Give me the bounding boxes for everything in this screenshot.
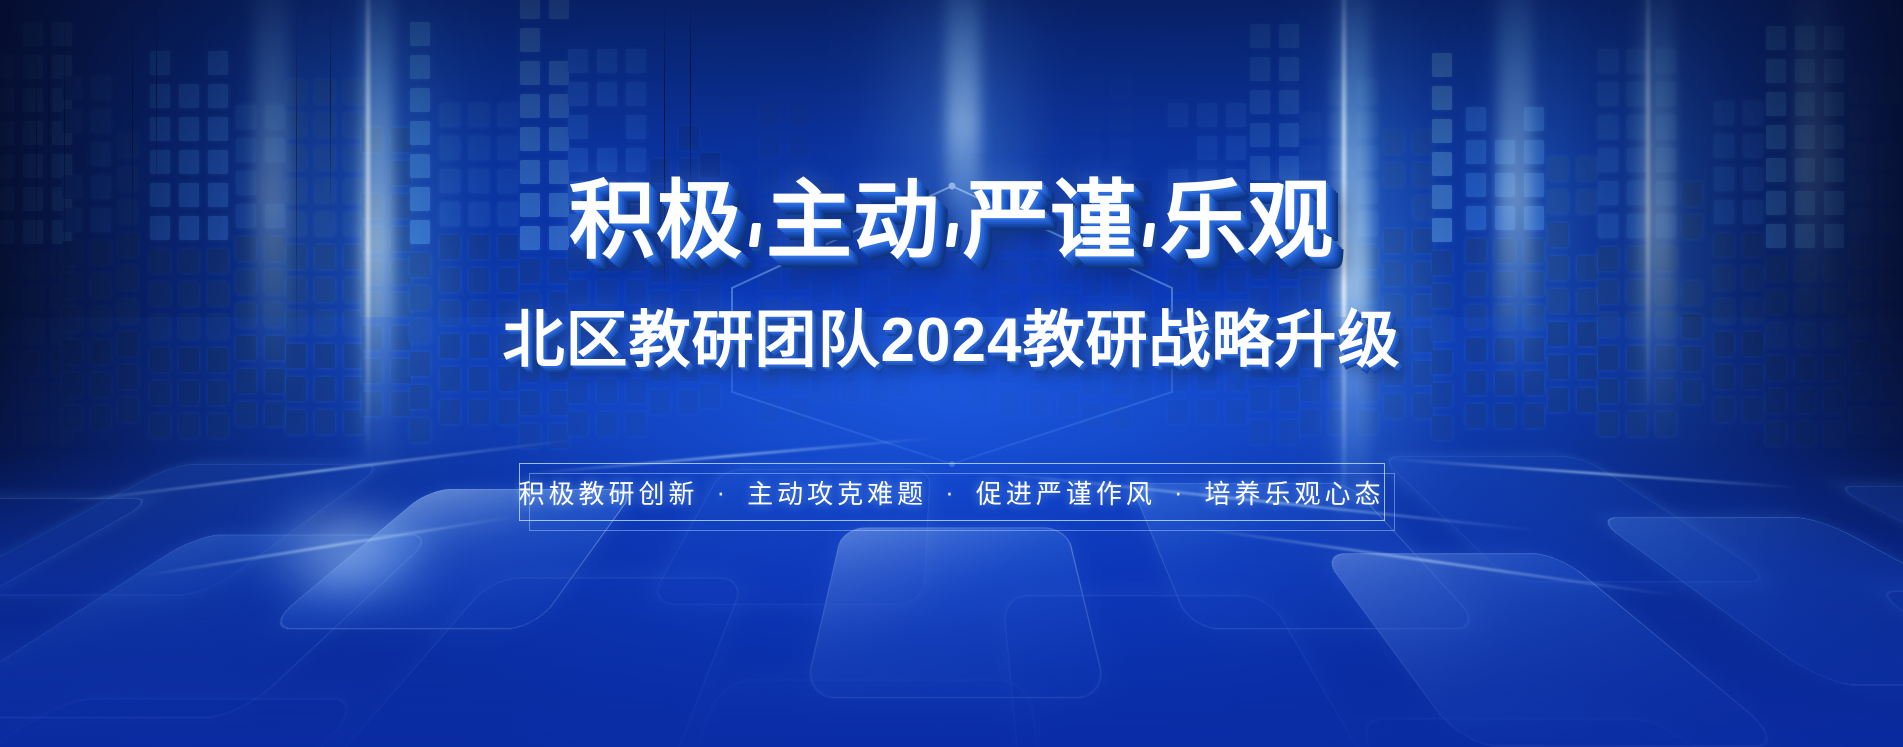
headline-word-2: 主动 [766,178,940,264]
headline: 积极主动严谨乐观 [569,178,1334,264]
tagline: 积极教研创新·主动攻克难题·促进严谨作风·培养乐观心态 [519,463,1385,521]
tagline-item-4: 培养乐观心态 [1201,474,1389,511]
promo-banner: 积极主动严谨乐观 北区教研团队2024教研战略升级 积极教研创新·主动攻克难题·… [0,0,1903,747]
tagline-item-2: 主动攻克难题 [743,474,931,511]
tagline-item-3: 促进严谨作风 [972,474,1160,511]
subheadline: 北区教研团队2024教研战略升级 [503,310,1401,372]
tagline-separator: · [931,477,972,508]
tagline-frame: 积极教研创新·主动攻克难题·促进严谨作风·培养乐观心态 [519,463,1385,521]
headline-separator-dot [945,223,957,247]
headline-separator-dot [748,223,760,247]
headline-word-4: 乐观 [1160,178,1334,264]
tagline-item-1: 积极教研创新 [514,474,702,511]
tagline-separator: · [1160,477,1201,508]
banner-content: 积极主动严谨乐观 北区教研团队2024教研战略升级 积极教研创新·主动攻克难题·… [0,0,1903,747]
headline-word-3: 严谨 [963,178,1137,264]
headline-separator-dot [1142,223,1154,247]
headline-word-1: 积极 [569,178,743,264]
tagline-separator: · [702,477,743,508]
